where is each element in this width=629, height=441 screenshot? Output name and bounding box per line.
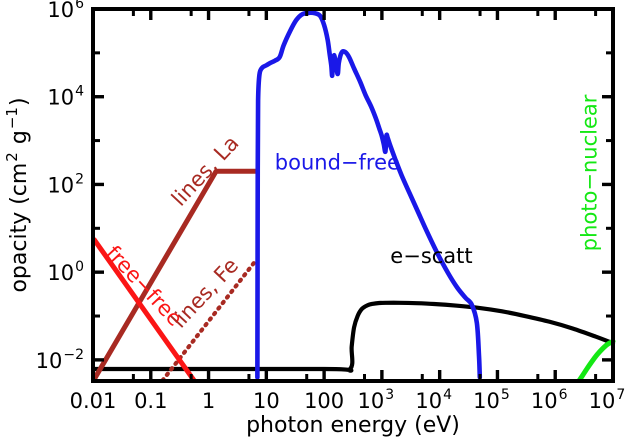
series-label-bound-free: bound−free: [275, 150, 400, 174]
x-tick-label: 1: [202, 389, 215, 413]
opacity-chart-svg: 0.010.1110100103104105106107106104102100…: [0, 0, 629, 441]
x-tick-label: 10: [253, 389, 280, 413]
x-axis-title: photon energy (eV): [246, 413, 460, 438]
x-tick-label: 0.01: [70, 389, 117, 413]
series-label-e-scatt: e−scatt: [390, 244, 472, 268]
x-tick-label: 100: [304, 389, 344, 413]
opacity-vs-photon-energy-figure: 0.010.1110100103104105106107106104102100…: [0, 0, 629, 441]
series-label-photo-nuclear: photo−nuclear: [578, 94, 602, 251]
x-tick-label: 0.1: [134, 389, 167, 413]
